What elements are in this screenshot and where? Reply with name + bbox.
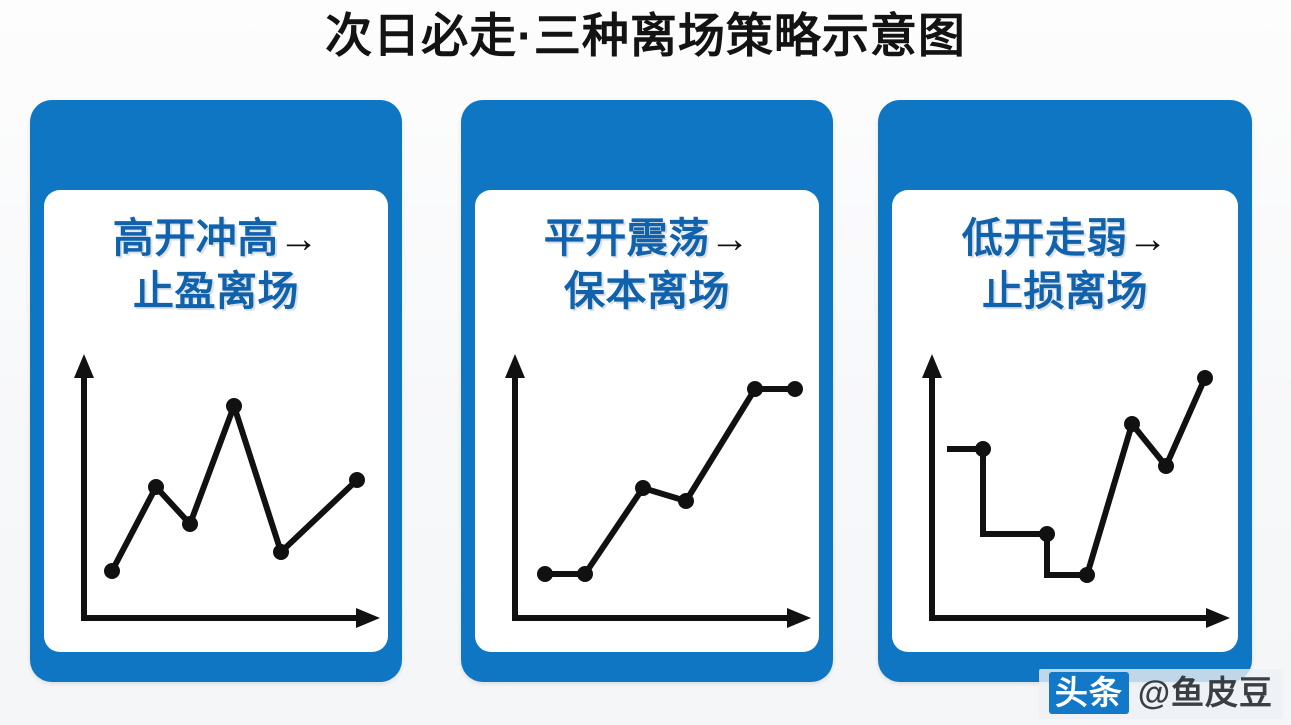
data-point [273, 544, 289, 560]
card-inner-panel: 低开走弱→ 止损离场 [892, 190, 1238, 652]
arrow-right-icon: → [279, 217, 320, 261]
poster-canvas: 次日必走·三种离场策略示意图 高开冲高→ 止盈离场 [0, 0, 1291, 725]
data-point [678, 493, 694, 509]
y-axis-arrowhead [922, 354, 942, 378]
card-heading: 平开震荡→ 保本离场 [475, 212, 819, 317]
x-axis-arrowhead [787, 608, 811, 628]
strategy-card-low-open[interactable]: 低开走弱→ 止损离场 [878, 100, 1252, 682]
card-heading-line1: 低开走弱 [962, 215, 1128, 261]
data-point [104, 563, 120, 579]
price-line [947, 378, 1205, 575]
watermark: 头条 @鱼皮豆 [1039, 669, 1283, 719]
strategy-card-flat-open[interactable]: 平开震荡→ 保本离场 [461, 100, 833, 682]
card-heading-line1: 高开冲高 [113, 215, 279, 261]
data-point [1039, 526, 1055, 542]
y-axis-arrowhead [505, 354, 525, 378]
card-heading-line2: 止盈离场 [44, 265, 388, 317]
data-point [1158, 458, 1174, 474]
data-point [1079, 567, 1095, 583]
data-point [975, 441, 991, 457]
card-heading: 高开冲高→ 止盈离场 [44, 212, 388, 317]
watermark-handle: @鱼皮豆 [1138, 673, 1273, 713]
card-inner-panel: 平开震荡→ 保本离场 [475, 190, 819, 652]
card-heading-line2: 止损离场 [892, 265, 1238, 317]
arrow-right-icon: → [710, 217, 751, 261]
data-point [349, 472, 365, 488]
card-inner-panel: 高开冲高→ 止盈离场 [44, 190, 388, 652]
arrow-right-icon: → [1128, 217, 1169, 261]
data-point [537, 566, 553, 582]
price-line [545, 389, 795, 574]
x-axis-arrowhead [1206, 608, 1230, 628]
x-axis-arrowhead [356, 608, 380, 628]
y-axis-arrowhead [74, 354, 94, 378]
data-point [635, 480, 651, 496]
card-heading: 低开走弱→ 止损离场 [892, 212, 1238, 317]
data-point [226, 398, 242, 414]
data-point [577, 566, 593, 582]
data-point [747, 381, 763, 397]
page-title: 次日必走·三种离场策略示意图 [0, 6, 1291, 66]
data-point [182, 516, 198, 532]
data-point [1124, 416, 1140, 432]
data-point [787, 381, 803, 397]
card-heading-line2: 保本离场 [475, 265, 819, 317]
data-point [148, 479, 164, 495]
data-point [1197, 370, 1213, 386]
strategy-card-high-open[interactable]: 高开冲高→ 止盈离场 [30, 100, 402, 682]
card-heading-line1: 平开震荡 [544, 215, 710, 261]
watermark-badge: 头条 [1049, 672, 1129, 714]
flat-open-oscillation-chart [475, 336, 819, 636]
high-open-surge-chart [44, 336, 388, 636]
low-open-weak-chart [892, 336, 1238, 636]
